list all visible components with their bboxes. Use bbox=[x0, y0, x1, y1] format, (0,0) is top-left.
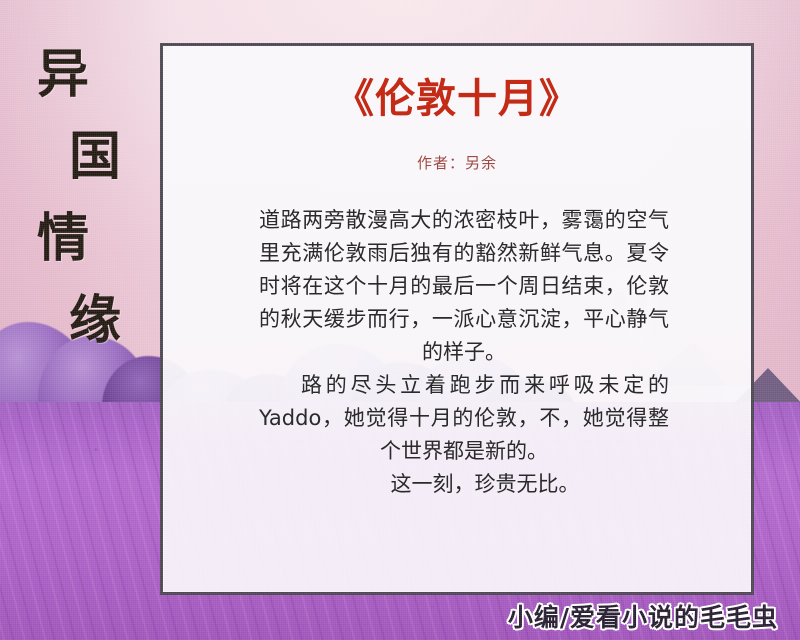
headline-char-1: 异 bbox=[0, 34, 160, 116]
story-paragraph-2: 路的尽头立着跑步而来呼吸未定的Yaddo，她觉得十月的伦敦，不，她觉得整个世界都… bbox=[259, 369, 669, 468]
watermark-credit: 小编/爱看小说的毛毛虫 bbox=[0, 598, 778, 634]
story-paragraph-1: 道路两旁散漫高大的浓密枝叶，雾霭的空气里充满伦敦雨后独有的豁然新鲜气息。夏令时将… bbox=[259, 204, 669, 369]
vertical-headline: 异 国 情 缘 bbox=[0, 34, 160, 362]
story-body: 道路两旁散漫高大的浓密枝叶，雾霭的空气里充满伦敦雨后独有的豁然新鲜气息。夏令时将… bbox=[259, 204, 669, 501]
page-title: 《伦敦十月》 bbox=[163, 66, 751, 124]
story-card: 《伦敦十月》 作者：另余 道路两旁散漫高大的浓密枝叶，雾霭的空气里充满伦敦雨后独… bbox=[160, 43, 754, 595]
story-closing-line: 这一刻，珍贵无比。 bbox=[259, 468, 669, 501]
headline-char-4: 缘 bbox=[0, 280, 160, 362]
headline-char-3: 情 bbox=[0, 198, 160, 280]
headline-char-2: 国 bbox=[0, 116, 160, 198]
author-line: 作者：另余 bbox=[163, 152, 751, 173]
